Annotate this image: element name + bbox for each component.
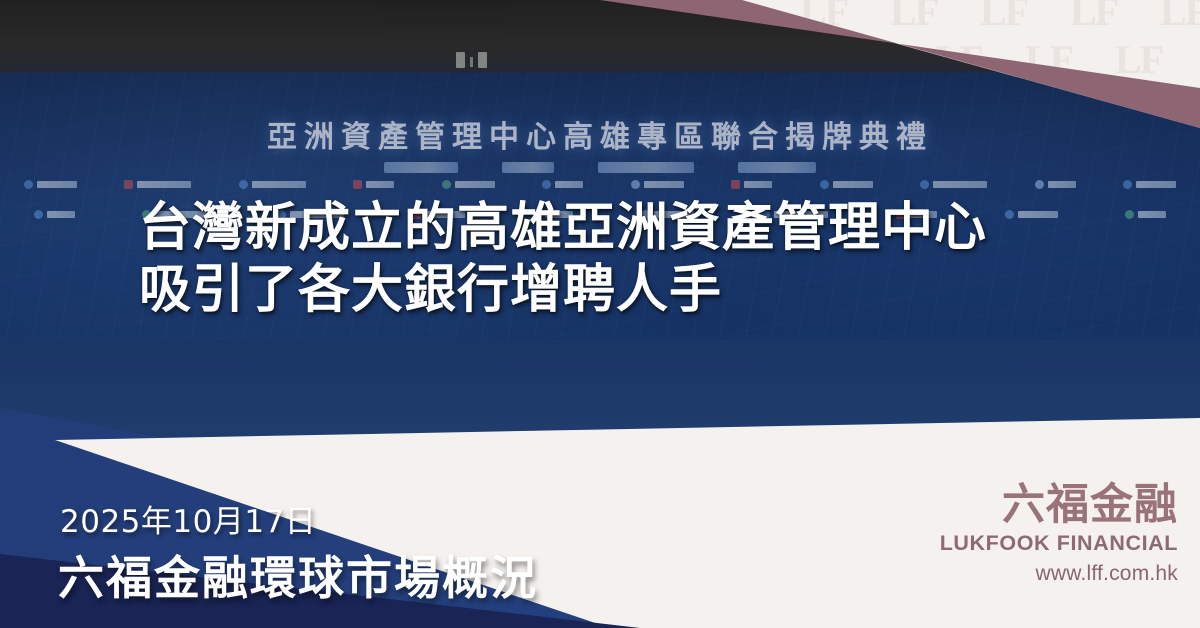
series-title: 六福金融環球市場概況	[58, 542, 538, 608]
headline: 台灣新成立的高雄亞洲資產管理中心 吸引了各大銀行增聘人手	[139, 197, 1099, 321]
lukfook-financial-logo[interactable]: 六福金融 LUKFOOK FINANCIAL www.lff.com.hk	[928, 484, 1178, 586]
lf-watermark-icon: LF	[980, 0, 1027, 31]
logo-english-name: LUKFOOK FINANCIAL	[928, 531, 1178, 556]
headline-line-1: 台灣新成立的高雄亞洲資產管理中心	[139, 198, 987, 258]
logo-chinese-name: 六福金融	[928, 484, 1178, 528]
lf-watermark-icon: LF	[890, 0, 937, 31]
lf-watermark-icon: LF	[1160, 0, 1200, 31]
logo-website-url[interactable]: www.lff.com.hk	[928, 562, 1178, 586]
lf-watermark-icon: LF	[1115, 42, 1162, 79]
lf-watermark-icon: LF	[1070, 0, 1117, 31]
headline-line-2: 吸引了各大銀行增聘人手	[139, 259, 1099, 321]
publication-date: 2025年10月17日	[60, 496, 316, 541]
market-summary-banner: 亞洲資產管理中心高雄專區聯合揭牌典禮	[0, 0, 1200, 628]
